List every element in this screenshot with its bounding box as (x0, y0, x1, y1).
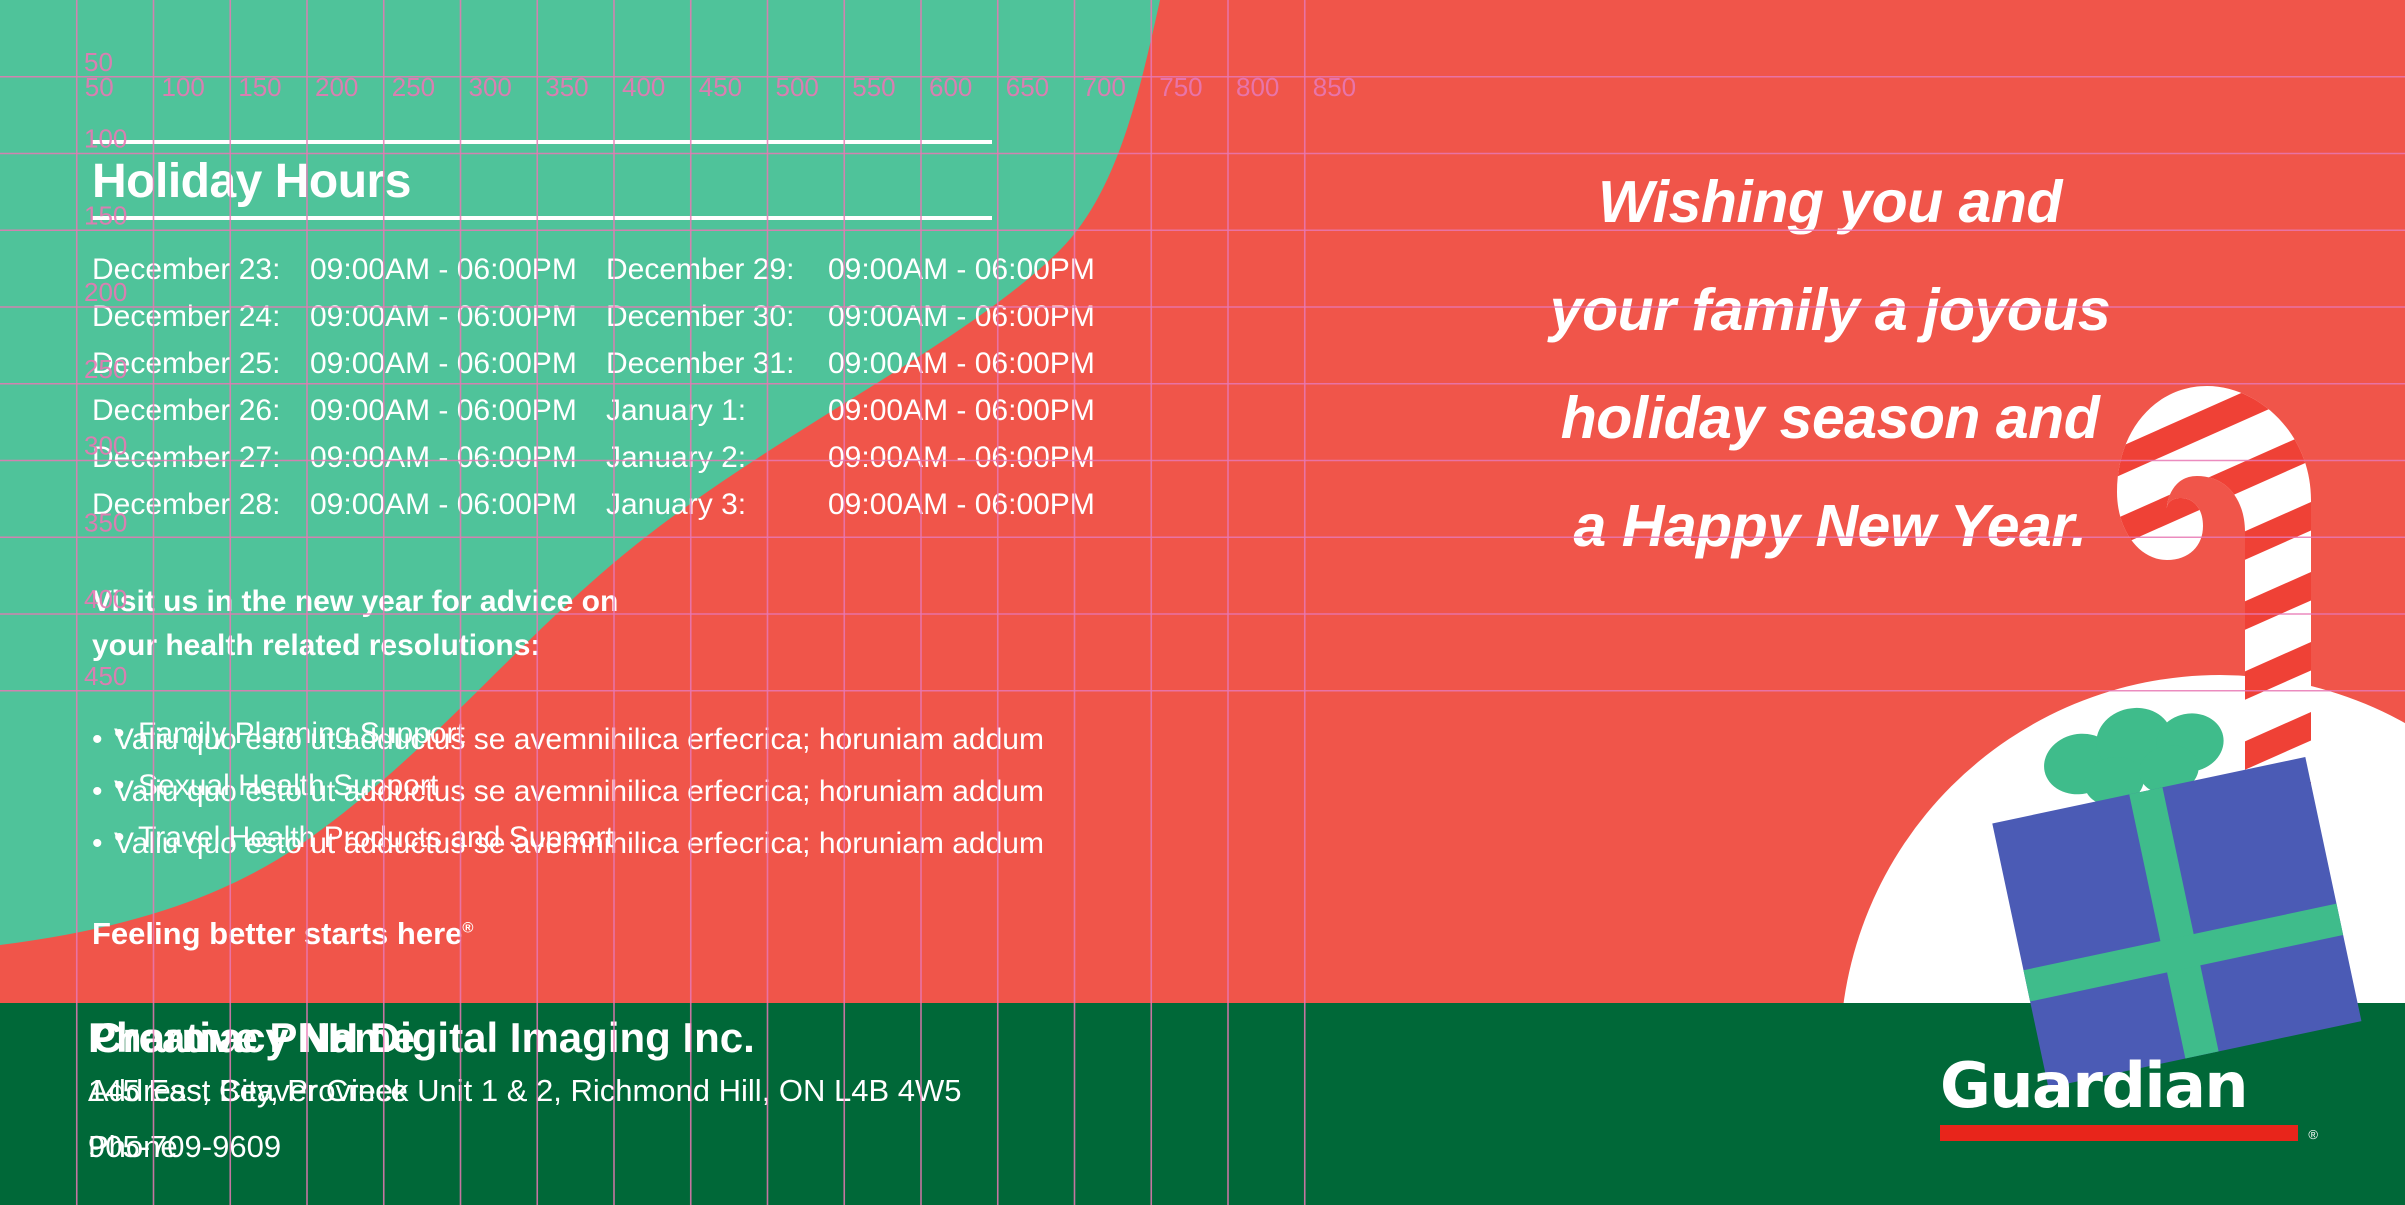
hours-row: January 2: 09:00AM - 06:00PM (606, 434, 1152, 481)
hours-time: 09:00AM - 06:00PM (310, 387, 577, 434)
hours-date: December 29: (606, 246, 828, 293)
hours-date: December 26: (92, 387, 310, 434)
left-content-column: Holiday Hours December 23: 09:00AM - 06:… (92, 0, 1152, 858)
hours-date: January 3: (606, 481, 828, 528)
hours-row: December 24: 09:00AM - 06:00PM (92, 293, 592, 340)
list-item: Travel Health Products and Support (114, 812, 1154, 864)
bullet-list-services: Family Planning Support Sexual Health Su… (114, 708, 1154, 864)
services-bullets-area: Valiu quo esto ut adductus se avemnihili… (92, 708, 1152, 858)
guardian-logo: Guardian ® (1940, 1055, 2340, 1141)
hours-time: 09:00AM - 06:00PM (828, 340, 1095, 387)
greeting-card-canvas: Holiday Hours December 23: 09:00AM - 06:… (0, 0, 2405, 1205)
hours-time: 09:00AM - 06:00PM (828, 293, 1095, 340)
hours-date: January 2: (606, 434, 828, 481)
hours-row: December 26: 09:00AM - 06:00PM (92, 387, 592, 434)
hours-row: December 28: 09:00AM - 06:00PM (92, 481, 592, 528)
brand-tagline: Feeling better starts here® (92, 916, 473, 952)
divider-below-title (92, 216, 992, 220)
hours-time: 09:00AM - 06:00PM (310, 481, 577, 528)
registered-mark-icon: ® (2308, 1127, 2318, 1142)
hours-column-1: December 23: 09:00AM - 06:00PM December … (92, 246, 592, 528)
greeting-line: your family a joyous (1380, 256, 2280, 364)
hours-row: December 23: 09:00AM - 06:00PM (92, 246, 592, 293)
hours-time: 09:00AM - 06:00PM (828, 387, 1095, 434)
hours-date: December 23: (92, 246, 310, 293)
hours-row: December 31: 09:00AM - 06:00PM (606, 340, 1152, 387)
guardian-logo-underline: ® (1940, 1125, 2298, 1141)
advice-line-1: Visit us in the new year for advice on (92, 580, 1152, 624)
hours-date: December 30: (606, 293, 828, 340)
holiday-hours-title: Holiday Hours (92, 144, 1152, 216)
hours-row: January 3: 09:00AM - 06:00PM (606, 481, 1152, 528)
phone-number: 905-709-9609 (88, 1131, 281, 1162)
advice-line-2: your health related resolutions: (92, 624, 1152, 668)
hours-time: 09:00AM - 06:00PM (310, 340, 577, 387)
hours-date: December 27: (92, 434, 310, 481)
list-item: Sexual Health Support (114, 760, 1154, 812)
list-item: Family Planning Support (114, 708, 1154, 760)
holiday-hours-table: December 23: 09:00AM - 06:00PM December … (92, 246, 1152, 528)
pharmacy-name: Creative PNH Digital Imaging Inc. (92, 1017, 755, 1059)
hours-date: December 28: (92, 481, 310, 528)
hours-date: December 31: (606, 340, 828, 387)
hours-row: December 29: 09:00AM - 06:00PM (606, 246, 1152, 293)
advice-heading: Visit us in the new year for advice on y… (92, 580, 1152, 668)
hours-time: 09:00AM - 06:00PM (310, 246, 577, 293)
hours-row: January 1: 09:00AM - 06:00PM (606, 387, 1152, 434)
hours-date: December 24: (92, 293, 310, 340)
hours-row: December 25: 09:00AM - 06:00PM (92, 340, 592, 387)
hours-column-2: December 29: 09:00AM - 06:00PM December … (606, 246, 1152, 528)
greeting-line: Wishing you and (1380, 148, 2280, 256)
hours-time: 09:00AM - 06:00PM (310, 293, 577, 340)
registered-mark-icon: ® (462, 920, 473, 937)
hours-time: 09:00AM - 06:00PM (828, 434, 1095, 481)
hours-date: December 25: (92, 340, 310, 387)
hours-date: January 1: (606, 387, 828, 434)
hours-row: December 27: 09:00AM - 06:00PM (92, 434, 592, 481)
guardian-wordmark: Guardian (1940, 1055, 2340, 1117)
gift-box-icon (1980, 700, 2360, 1080)
hours-row: December 30: 09:00AM - 06:00PM (606, 293, 1152, 340)
hours-time: 09:00AM - 06:00PM (828, 481, 1095, 528)
hours-time: 09:00AM - 06:00PM (310, 434, 577, 481)
address: 145 East Beaver Creek Unit 1 & 2, Richmo… (88, 1075, 962, 1106)
hours-time: 09:00AM - 06:00PM (828, 246, 1095, 293)
tagline-text: Feeling better starts here (92, 916, 462, 951)
